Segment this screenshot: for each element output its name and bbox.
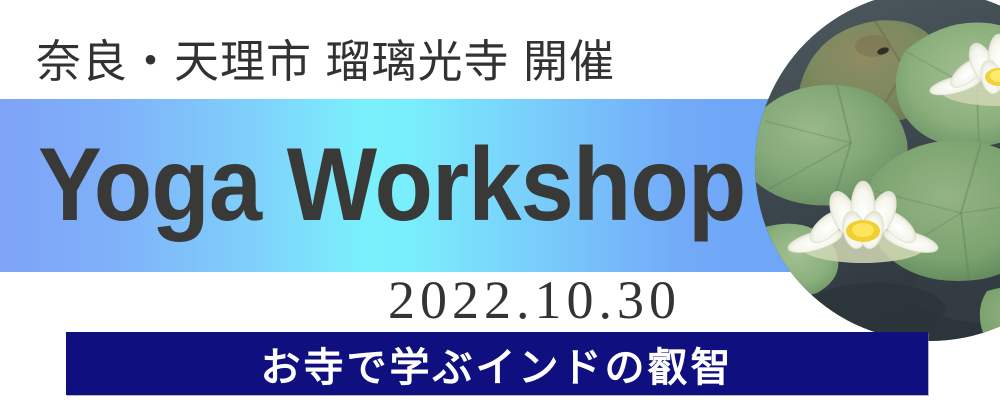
venue-heading: 奈良・天理市 瑠璃光寺 開催 (36, 22, 756, 92)
tagline-text: お寺で学ぶインドの叡智 (261, 335, 734, 393)
event-banner: 奈良・天理市 瑠璃光寺 開催 Yoga Workshop 2022.10.30 … (0, 0, 1000, 400)
tagline-bar: お寺で学ぶインドの叡智 (66, 332, 928, 395)
page-title: Yoga Workshop (38, 125, 745, 245)
event-date: 2022.10.30 (388, 272, 798, 328)
